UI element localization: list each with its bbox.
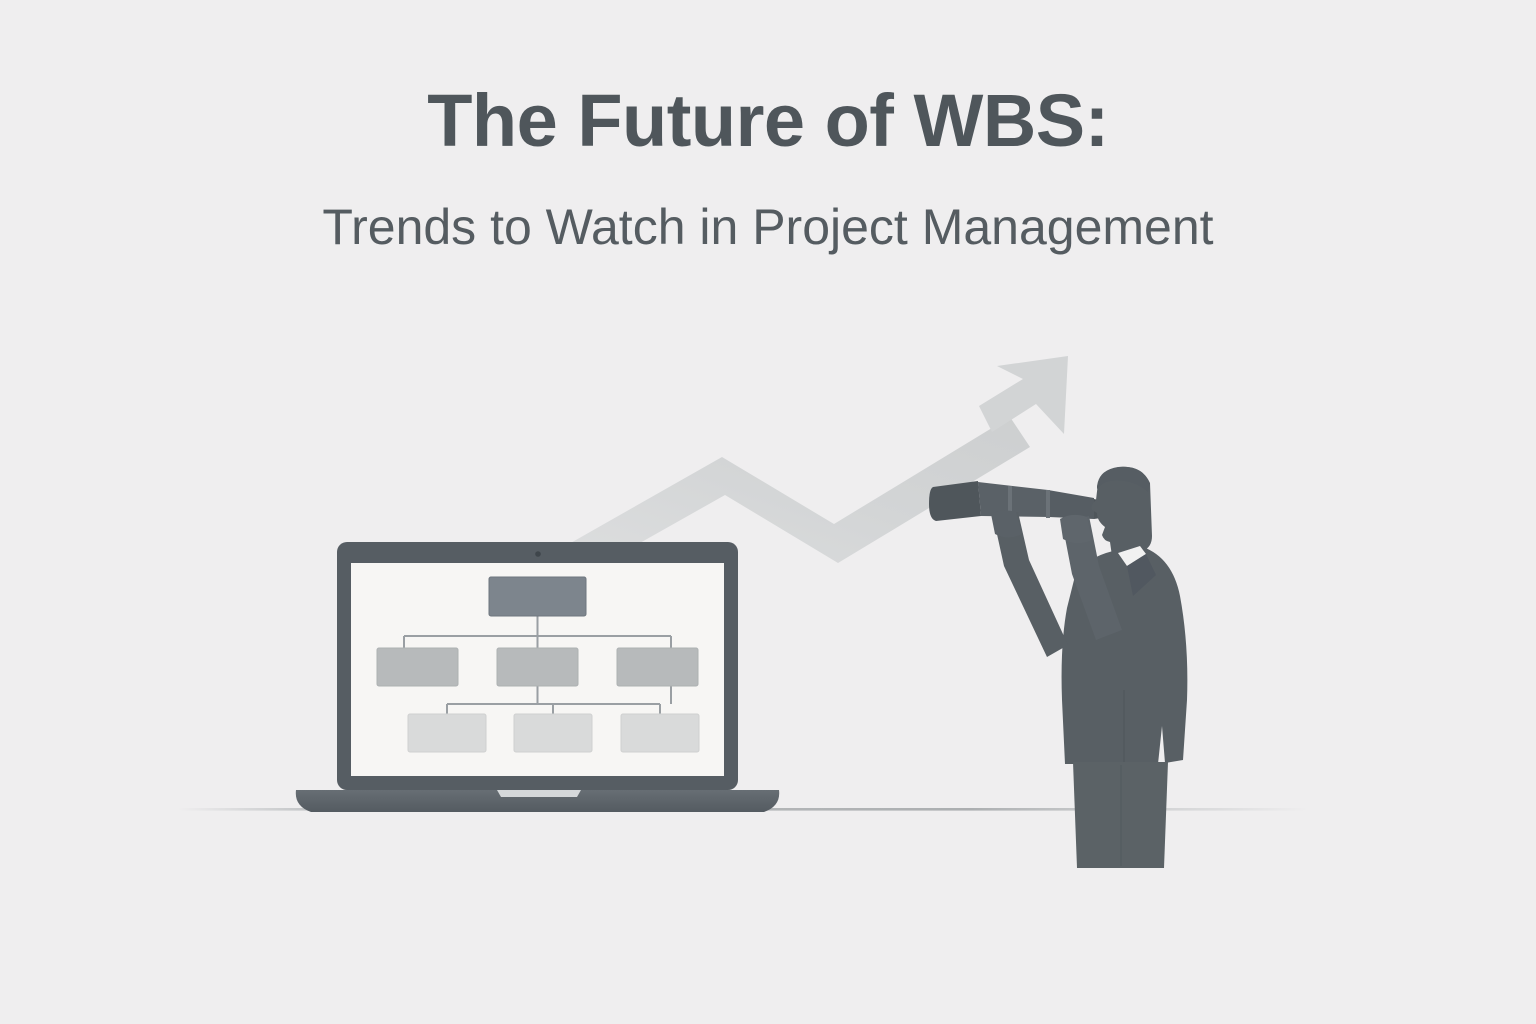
wbs-root-node (489, 577, 586, 616)
wbs-branch-node (377, 648, 458, 686)
laptop-base-notch (497, 790, 581, 797)
wbs-nodes-level2 (377, 648, 698, 686)
wbs-leaf-node (621, 714, 699, 752)
wbs-node-level1 (489, 577, 586, 616)
wbs-leaf-node (514, 714, 592, 752)
businessman-with-telescope (929, 467, 1187, 868)
telescope-objective (929, 481, 981, 521)
wbs-branch-node (497, 648, 578, 686)
telescope-inner-barrel (1048, 490, 1094, 519)
businessman-near-hand (1060, 515, 1092, 543)
laptop (296, 542, 779, 812)
growth-arrow-head (979, 356, 1068, 434)
wbs-leaf-node (408, 714, 486, 752)
page-root: The Future of WBS: Trends to Watch in Pr… (0, 0, 1536, 1024)
laptop-camera-icon (535, 551, 541, 557)
telescope-ring (1046, 490, 1050, 518)
wbs-nodes-level3 (408, 714, 699, 752)
hero-illustration (0, 0, 1536, 1024)
wbs-branch-node (617, 648, 698, 686)
